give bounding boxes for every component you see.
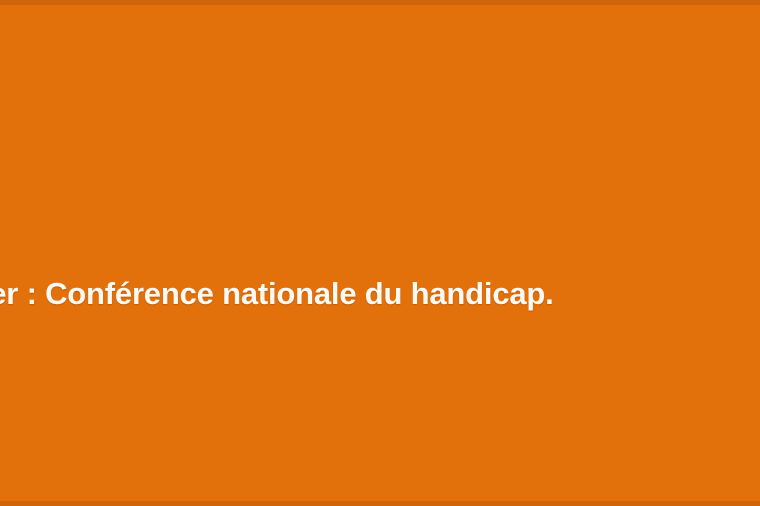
slide-text-block: 11 février : Conférence nationale du han…	[0, 46, 760, 506]
text-line: 11 février : Conférence nationale du han…	[0, 271, 760, 316]
orange-announcement-slide: 11 février : Conférence nationale du han…	[0, 0, 760, 506]
top-edge-band	[0, 0, 760, 5]
bottom-edge-band	[0, 501, 760, 506]
paragraph-date-announcement: 11 février : Conférence nationale du han…	[0, 181, 760, 406]
